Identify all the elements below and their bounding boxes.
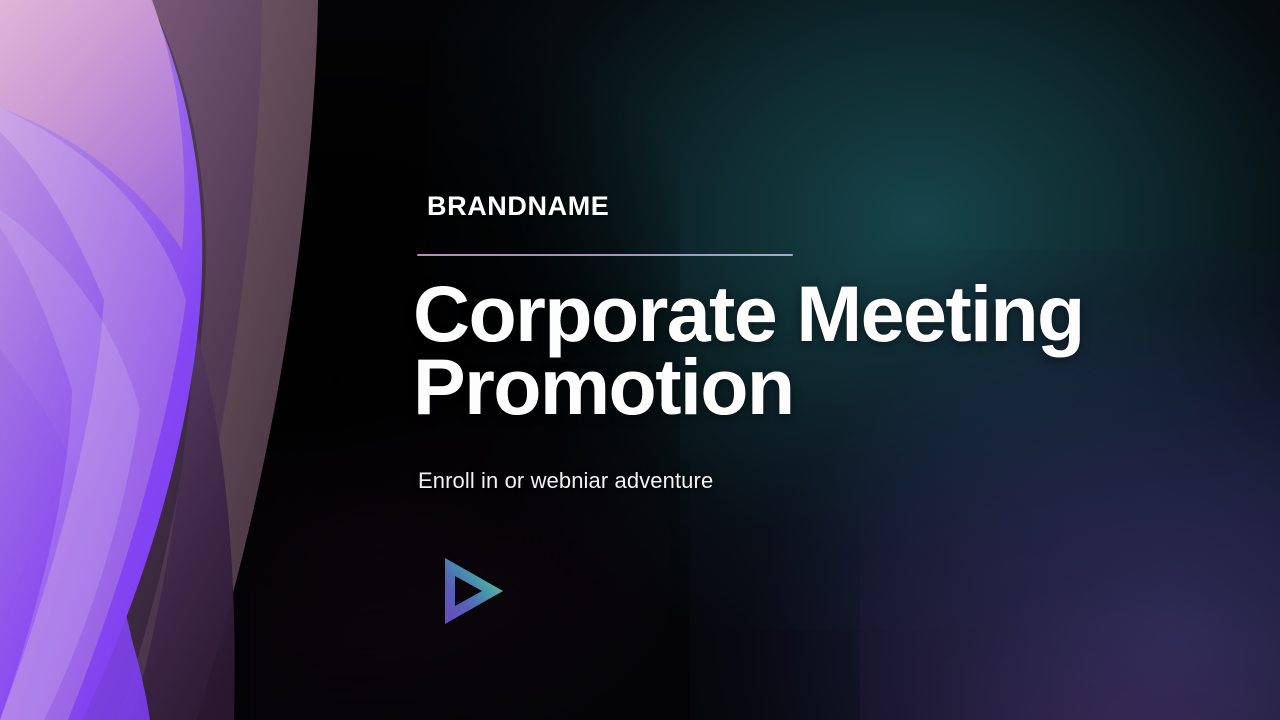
play-triangle-outline-icon xyxy=(431,548,517,634)
brand-name: BRANDNAME xyxy=(427,193,609,220)
subtitle-text: Enroll in or webniar adventure xyxy=(418,468,713,494)
slide-content: BRANDNAME Corporate Meeting Promotion En… xyxy=(417,0,1177,720)
page-title: Corporate Meeting Promotion xyxy=(413,278,1183,423)
decorative-ribbon-artwork xyxy=(0,0,400,720)
slide-canvas: BRANDNAME Corporate Meeting Promotion En… xyxy=(0,0,1280,720)
play-button[interactable] xyxy=(431,548,517,634)
divider-rule xyxy=(417,254,793,256)
